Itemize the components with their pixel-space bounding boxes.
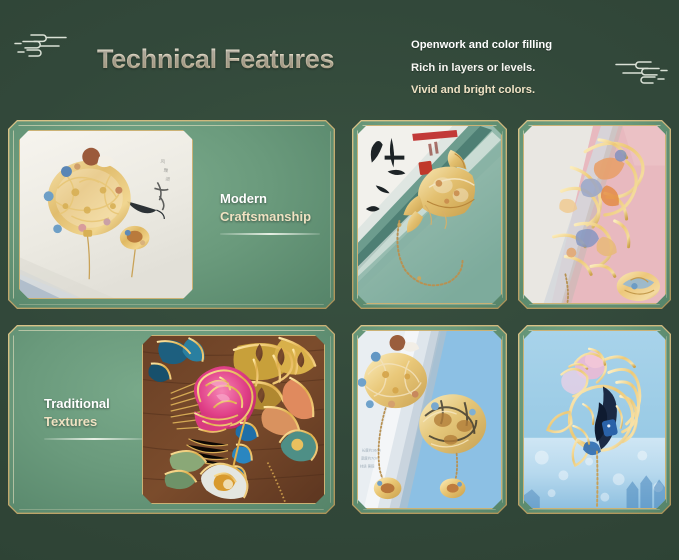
feature-card-modern-craftsmanship[interactable]: 风 雅 颂 <box>8 120 335 309</box>
card-photo-bookmark-in-book <box>357 125 502 304</box>
card-photo-koi-lotus-blue <box>523 330 666 509</box>
card-label-line2: Textures <box>44 413 144 431</box>
svg-text:材质 黄铜: 材质 黄铜 <box>360 463 375 468</box>
feature-card-bookmarks-blue[interactable]: 长度约16cm 宽度约7cm 材质 黄铜 <box>352 325 507 514</box>
card-label-line2: Craftsmanship <box>220 208 320 226</box>
svg-text:宽度约7cm: 宽度约7cm <box>361 456 378 461</box>
feature-bullet-1: Openwork and color filling <box>411 34 651 57</box>
cloud-motif-icon <box>608 57 670 91</box>
feature-card-bookmark-in-book[interactable] <box>352 120 507 309</box>
card-label-line1: Traditional <box>44 395 144 413</box>
card-photo-bookmarks-blue: 长度约16cm 宽度约7cm 材质 黄铜 <box>357 330 502 509</box>
card-photo-phoenix-pink <box>523 125 666 304</box>
card-photo-traditional-textures <box>142 335 325 504</box>
header: Technical Features Openwork and color fi… <box>0 0 679 112</box>
card-label-traditional-textures: Traditional Textures <box>44 395 144 440</box>
card-label-line1: Modern <box>220 190 320 208</box>
feature-card-traditional-textures[interactable]: Traditional Textures <box>8 325 335 514</box>
page-title: Technical Features <box>97 44 334 75</box>
card-label-modern-craftsmanship: Modern Craftsmanship <box>220 190 320 235</box>
feature-card-koi-lotus-blue[interactable] <box>518 325 671 514</box>
feature-card-grid: 风 雅 颂 <box>0 112 679 560</box>
feature-card-phoenix-pink[interactable] <box>518 120 671 309</box>
page-background: Technical Features Openwork and color fi… <box>0 0 679 560</box>
card-label-underline <box>44 438 144 440</box>
card-label-underline <box>220 233 320 235</box>
card-photo-modern-craftsmanship: 风 雅 颂 <box>19 130 193 299</box>
cloud-motif-icon <box>12 30 74 64</box>
